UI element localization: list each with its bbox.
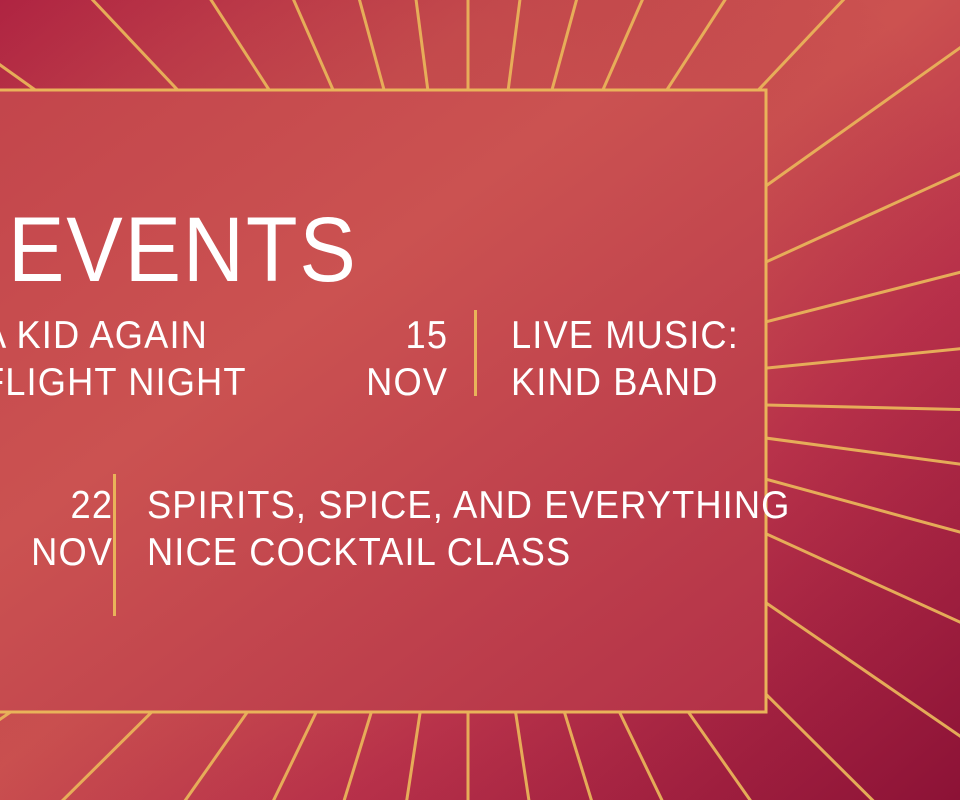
page-title: NG EVENTS [0, 204, 358, 296]
event-2-name-line2: KIND BAND [511, 359, 739, 406]
event-1-name: A KID AGAIN FLIGHT NIGHT [0, 312, 342, 406]
event-item-2[interactable]: LIVE MUSIC: KIND BAND [511, 312, 756, 406]
event-poster: NG EVENTS A KID AGAIN FLIGHT NIGHT 15 NO… [0, 0, 960, 800]
event-divider-1 [474, 310, 477, 396]
event-3-name: SPIRITS, SPICE, AND EVERYTHING NICE COCK… [147, 482, 839, 576]
event-1-month: NOV [366, 359, 448, 406]
event-item-1[interactable]: A KID AGAIN FLIGHT NIGHT 15 NOV [0, 312, 474, 406]
event-1-date: 15 NOV [342, 312, 448, 406]
event-3-name-line2: NICE COCKTAIL CLASS [147, 529, 791, 576]
event-2-name: LIVE MUSIC: KIND BAND [511, 312, 756, 406]
content-frame: NG EVENTS A KID AGAIN FLIGHT NIGHT 15 NO… [0, 90, 766, 712]
event-3-name-line1: SPIRITS, SPICE, AND EVERYTHING [147, 482, 791, 529]
event-divider-2 [113, 474, 116, 616]
event-item-3[interactable]: SPIRITS, SPICE, AND EVERYTHING NICE COCK… [147, 482, 839, 576]
event-1-name-line2: FLIGHT NIGHT [0, 359, 317, 406]
event-2-name-line1: LIVE MUSIC: [511, 312, 739, 359]
event-3-date: 22 NOV [25, 482, 113, 576]
event-row-top: A KID AGAIN FLIGHT NIGHT 15 NOV LIVE MUS [0, 312, 766, 406]
event-1-name-line1: A KID AGAIN [0, 312, 317, 359]
event-3-day: 22 [31, 482, 113, 529]
event-3-month: NOV [31, 529, 113, 576]
event-row-bottom: 22 NOV SPIRITS, SPICE, AND EVERYTHING NI… [0, 482, 766, 616]
event-1-day: 15 [366, 312, 448, 359]
